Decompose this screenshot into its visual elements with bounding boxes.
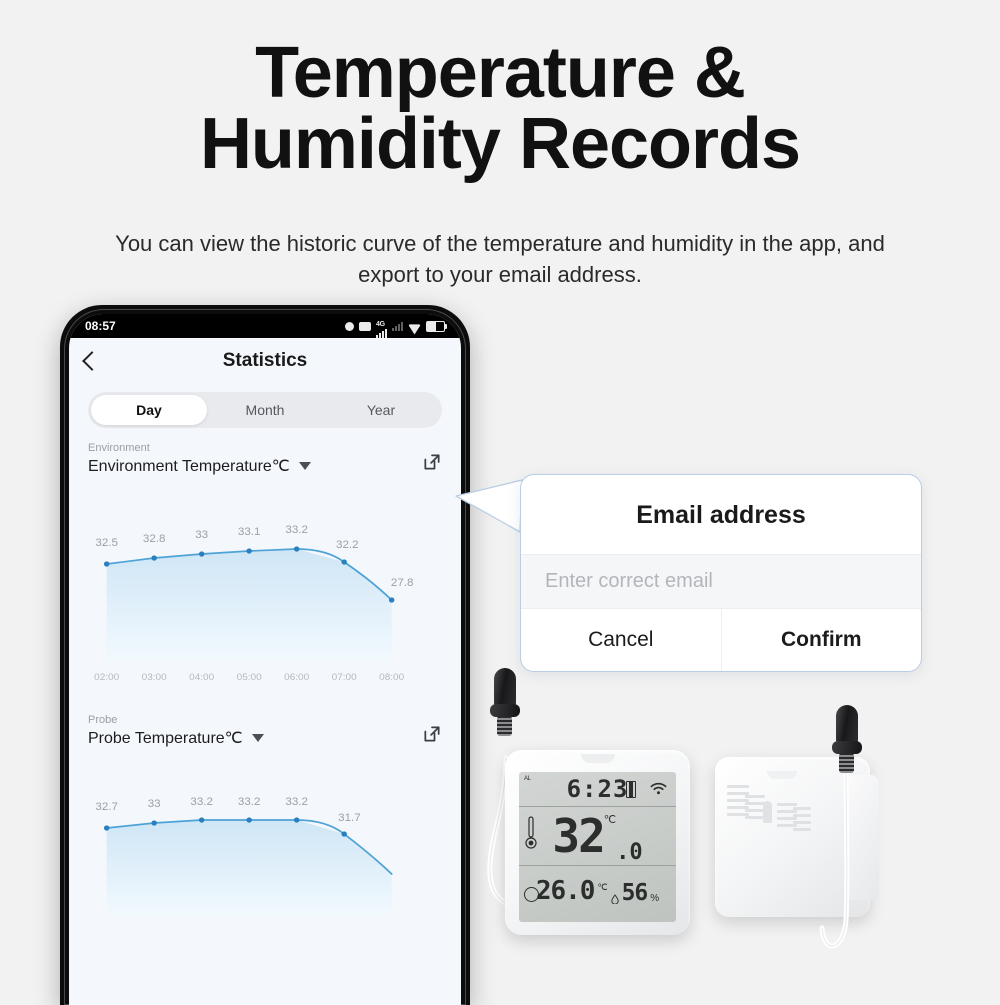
- droplet-icon: [611, 894, 619, 904]
- email-dialog: Email address Enter correct email Cancel…: [520, 474, 922, 672]
- nav-bar: Statistics: [69, 338, 461, 384]
- wall-mount-keyhole: [763, 801, 772, 823]
- metric-selector-environment[interactable]: Environment Temperature℃: [88, 456, 442, 476]
- page-subtitle: You can view the historic curve of the t…: [95, 228, 905, 290]
- thermometer-icon: [525, 815, 537, 855]
- lcd-main-decimal: .0: [616, 840, 643, 865]
- value-label: 31.7: [338, 812, 361, 824]
- dialog-title: Email address: [521, 475, 921, 554]
- status-bar: 08:57 4G: [69, 314, 461, 338]
- x-tick: 05:00: [237, 672, 263, 683]
- lcd-main-unit: ℃: [604, 813, 616, 826]
- confirm-button[interactable]: Confirm: [721, 609, 922, 671]
- x-tick: 08:00: [379, 672, 405, 683]
- lcd-main-temp: 32: [552, 813, 603, 859]
- dialog-actions: Cancel Confirm: [521, 609, 921, 671]
- camera-icon: [359, 322, 371, 331]
- chart-probe: 32.7 33 33.2 33.2 33.2 31.7: [75, 796, 455, 916]
- chart-environment: 32.5 32.8 33 33.1 33.2 32.2 27.8 02:00 0…: [75, 512, 455, 692]
- email-input[interactable]: Enter correct email: [521, 554, 921, 609]
- tab-day[interactable]: Day: [91, 395, 207, 425]
- lcd-humidity: 56: [622, 880, 648, 906]
- phone-screen: 08:57 4G Statistics Day: [69, 314, 461, 1005]
- export-icon[interactable]: [422, 724, 442, 744]
- section-probe: Probe Probe Temperature℃: [69, 692, 461, 748]
- chart-probe-svg: 32.7 33 33.2 33.2 33.2 31.7: [75, 796, 455, 916]
- period-segmented-control: Day Month Year: [88, 392, 442, 428]
- metric-selector-probe[interactable]: Probe Temperature℃: [88, 728, 442, 748]
- tab-month[interactable]: Month: [207, 395, 323, 425]
- section-sub-label-environment: Environment: [88, 442, 442, 454]
- value-label: 33.2: [190, 796, 213, 808]
- x-tick: 02:00: [94, 672, 120, 683]
- probe-tip-left: [485, 686, 525, 756]
- chevron-down-icon[interactable]: [299, 462, 311, 470]
- wifi-icon: [650, 782, 667, 795]
- alarm-icon: [345, 322, 354, 331]
- wifi-icon: [408, 322, 421, 331]
- value-label: 33.2: [238, 796, 261, 808]
- value-label: 32.5: [95, 537, 118, 549]
- headline-line-2: Humidity Records: [0, 109, 1000, 180]
- 4g-signal-icon: 4G: [376, 315, 387, 338]
- headline-line-1: Temperature &: [255, 33, 745, 113]
- chart-environment-svg: 32.5 32.8 33 33.1 33.2 32.2 27.8 02:00 0…: [75, 512, 455, 692]
- battery-icon: [426, 321, 445, 332]
- value-label: 33.1: [238, 526, 261, 538]
- section-environment: Environment Environment Temperature℃: [69, 428, 461, 476]
- chart-probe-area: [107, 820, 392, 916]
- value-label: 33: [195, 529, 208, 541]
- poster-stage: Temperature & Humidity Records You can v…: [0, 0, 1000, 1000]
- lcd-time: 6:23: [567, 775, 629, 803]
- x-tick: 04:00: [189, 672, 215, 683]
- x-tick: 07:00: [332, 672, 358, 683]
- lcd-humidity-unit: %: [650, 893, 659, 904]
- alarm-icon: AL: [524, 776, 531, 782]
- device-back-nub: [767, 771, 797, 779]
- home-icon: [524, 887, 539, 902]
- sensor-device-front: AL 6:23 32 ℃ .0: [505, 750, 690, 935]
- phone-mockup: 08:57 4G Statistics Day: [60, 305, 470, 1005]
- status-bar-time: 08:57: [85, 319, 116, 333]
- device-top-nub: [581, 754, 615, 763]
- chevron-down-icon[interactable]: [252, 734, 264, 742]
- tab-year[interactable]: Year: [323, 395, 439, 425]
- metric-title-environment: Environment Temperature℃: [88, 456, 290, 476]
- lcd-top-row: AL 6:23: [519, 772, 676, 807]
- x-tick: 06:00: [284, 672, 310, 683]
- nav-title: Statistics: [69, 350, 461, 372]
- value-label: 33.2: [285, 796, 308, 808]
- page-title: Temperature & Humidity Records: [0, 38, 1000, 179]
- cancel-button[interactable]: Cancel: [521, 609, 721, 671]
- battery-icon: [626, 781, 636, 798]
- value-label: 32.8: [143, 533, 166, 545]
- lcd-display: AL 6:23 32 ℃ .0: [519, 772, 676, 922]
- network-label: 4G: [376, 321, 385, 328]
- section-sub-label-probe: Probe: [88, 714, 442, 726]
- lcd-indoor-unit: ℃: [597, 882, 607, 893]
- value-label: 27.8: [391, 577, 414, 589]
- probe-cable-right: [818, 750, 888, 980]
- lcd-bottom-row: 26.0 ℃ 56 %: [519, 866, 676, 909]
- value-label: 33.2: [285, 524, 308, 536]
- chart-environment-x-axis: 02:00 03:00 04:00 05:00 06:00 07:00 08:0…: [94, 672, 405, 683]
- value-label: 32.2: [336, 539, 359, 551]
- status-bar-icons: 4G: [345, 315, 445, 338]
- value-label: 32.7: [95, 801, 118, 813]
- value-label: 33: [148, 798, 161, 810]
- export-icon[interactable]: [422, 452, 442, 472]
- signal-icon: [392, 322, 403, 331]
- probe-tip-right: [830, 705, 870, 775]
- lcd-main-row: 32 ℃ .0: [519, 807, 676, 866]
- x-tick: 03:00: [142, 672, 168, 683]
- metric-title-probe: Probe Temperature℃: [88, 728, 243, 748]
- lcd-indoor-temp: 26.0: [536, 876, 595, 906]
